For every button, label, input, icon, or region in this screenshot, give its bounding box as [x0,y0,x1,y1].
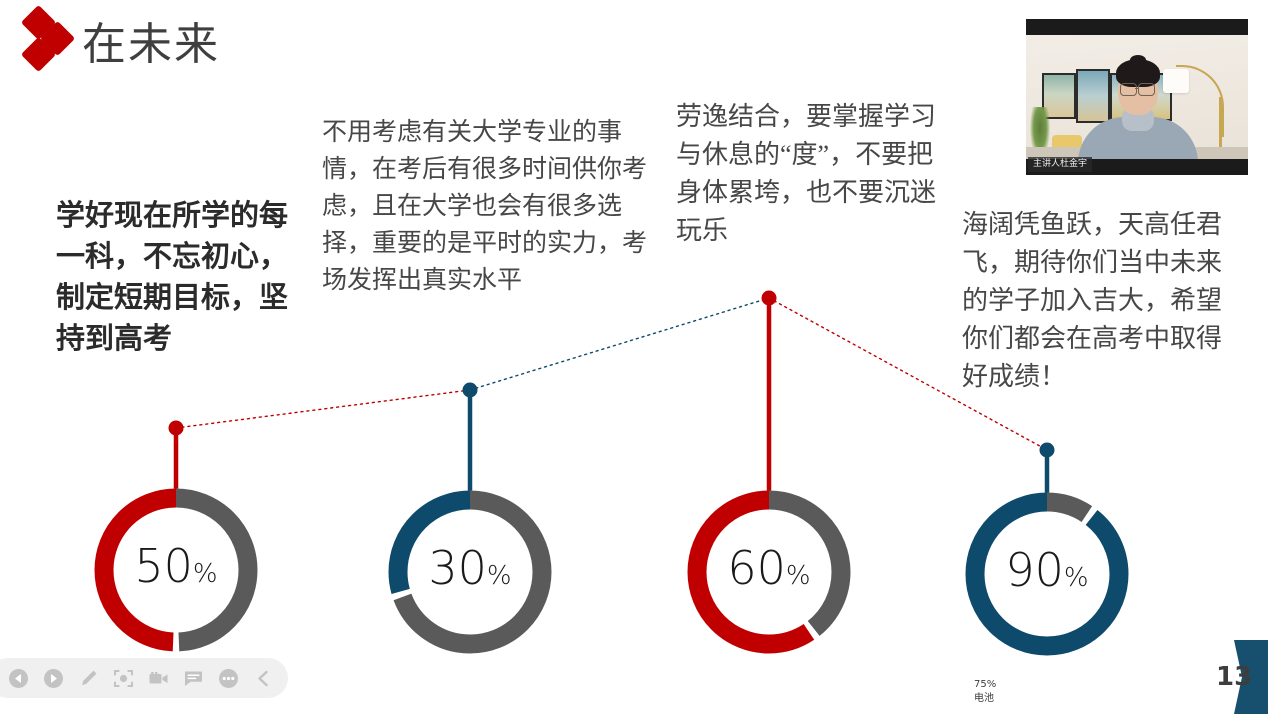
presenter-toolbar[interactable] [0,658,288,698]
diamond-logo-icon [22,6,84,72]
donut-marker-dot-1 [169,421,184,436]
donut-value-2: 30 [428,541,487,595]
floor-lamp-shade [1163,69,1189,93]
next-slide-button[interactable] [43,668,64,689]
text-block-2: 不用考虑有关大学专业的事情，在考后有很多时间供你考虑，且在大学也会有很多选择，重… [322,114,652,299]
previous-slide-button[interactable] [8,668,29,689]
page-title: 在未来 [82,8,220,72]
donut-value-1: 50 [134,539,193,593]
battery-status: 75% 电池 [974,678,996,706]
donut-label-3: 60% [697,541,841,595]
text-block-4: 海阔凭鱼跃，天高任君飞，期待你们当中未来的学子加入吉大，希望你们都会在高考中取得… [962,206,1242,396]
page-number: 13 [1216,662,1252,692]
text-block-3: 劳逸结合，要掌握学习与休息的“度”，不要把身体累垮，也不要沉迷玩乐 [676,98,944,250]
text-block-1: 学好现在所学的每一科，不忘初心，制定短期目标，坚持到高考 [56,196,296,360]
donut-percent-sign-4: % [1064,563,1089,593]
donut-value-3: 60 [727,541,786,595]
spotlight-button[interactable] [113,668,134,689]
annotate-pen-button[interactable] [78,668,99,689]
collapse-toolbar-button[interactable] [253,668,274,689]
record-button[interactable] [148,668,169,689]
donut-label-4: 90% [975,543,1119,597]
connector-line-2 [470,298,769,390]
battery-percent: 75% [974,678,996,692]
more-options-button[interactable] [218,668,239,689]
comment-button[interactable] [183,668,204,689]
connector-line-1 [176,390,470,428]
wall-art-2 [1076,69,1110,123]
glasses-left-lens [1120,83,1137,96]
donut-marker-dot-3 [762,291,777,306]
donut-value-4: 90 [1005,543,1064,597]
glasses-bridge [1135,88,1139,89]
donut-percent-sign-1: % [193,559,218,589]
donut-marker-dot-2 [463,383,478,398]
glasses-right-lens [1138,83,1155,96]
person-hair-bun [1130,55,1146,65]
donut-label-2: 30% [398,541,542,595]
slide-canvas: 在未来 主讲人杜金宇 学好现在所学的每一科，不忘初心，制定短期目标，坚持到高考 … [0,0,1268,714]
battery-label: 电池 [974,692,996,706]
presenter-video-frame [1026,35,1248,159]
presenter-name-label: 主讲人杜金宇 [1028,157,1092,172]
donut-label-1: 50% [104,539,248,593]
donut-percent-sign-3: % [786,561,811,591]
donut-marker-dot-4 [1040,443,1055,458]
presenter-video-tile[interactable]: 主讲人杜金宇 [1026,19,1248,175]
donut-percent-sign-2: % [487,561,512,591]
